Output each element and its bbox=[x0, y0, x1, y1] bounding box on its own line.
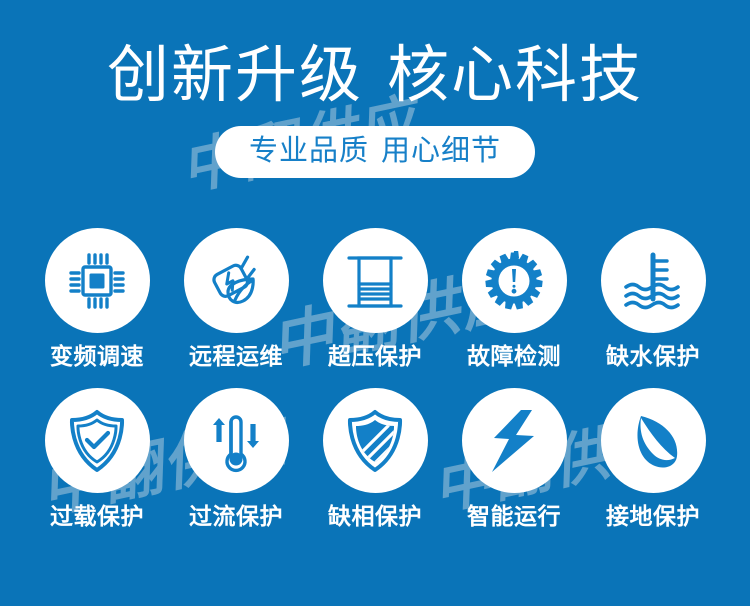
subtitle-part-2: 用心细节 bbox=[381, 135, 501, 167]
subtitle-part-1: 专业品质 bbox=[249, 135, 369, 167]
plug-leaf-icon bbox=[203, 248, 269, 314]
feature-item-guzhang-jiance[interactable]: 故障检测 bbox=[462, 228, 567, 370]
feature-item-yuancheng-yunwei[interactable]: 远程运维 bbox=[184, 228, 289, 370]
feature-label: 远程运维 bbox=[189, 342, 283, 370]
feature-item-jiedi-baohu[interactable]: 接地保护 bbox=[601, 388, 706, 530]
feature-label: 过载保护 bbox=[50, 502, 144, 530]
poster-root: 中翻供应 中翻供应 中翻供应 中翻供应 创新升级核心科技 专业品质用心细节 bbox=[0, 0, 750, 606]
feature-item-guoliu-baohu[interactable]: 过流保护 bbox=[184, 388, 289, 530]
water-level-gauge-icon bbox=[620, 249, 686, 313]
feature-item-zhineng-yunxing[interactable]: 智能运行 bbox=[462, 388, 567, 530]
title-part-1: 创新升级 bbox=[107, 41, 363, 110]
icon-disc bbox=[323, 388, 428, 493]
feature-label: 缺相保护 bbox=[328, 502, 422, 530]
feature-item-chaoya-baohu[interactable]: 超压保护 bbox=[323, 228, 428, 370]
icon-disc bbox=[601, 228, 706, 333]
feature-item-quexiang-baohu[interactable]: 缺相保护 bbox=[323, 388, 428, 530]
poster-header: 创新升级核心科技 专业品质用心细节 bbox=[0, 0, 750, 178]
feature-row: 过载保护 过流保护 bbox=[0, 388, 750, 530]
feature-label: 变频调速 bbox=[50, 342, 144, 370]
feature-item-queshui-baohu[interactable]: 缺水保护 bbox=[601, 228, 706, 370]
feature-label: 超压保护 bbox=[328, 342, 422, 370]
leaf-drop-icon bbox=[621, 408, 685, 474]
icon-disc bbox=[323, 228, 428, 333]
subtitle-pill-wrap: 专业品质用心细节 bbox=[0, 126, 750, 178]
cpu-chip-icon bbox=[65, 249, 129, 313]
feature-label: 接地保护 bbox=[606, 502, 700, 530]
feature-grid: 变频调速 bbox=[0, 228, 750, 530]
subtitle-pill: 专业品质用心细节 bbox=[215, 126, 535, 178]
title-part-2: 核心科技 bbox=[387, 41, 643, 110]
thermometer-arrows-icon bbox=[205, 408, 267, 474]
icon-disc bbox=[45, 388, 150, 493]
feature-item-guozai-baohu[interactable]: 过载保护 bbox=[45, 388, 150, 530]
icon-disc bbox=[462, 228, 567, 333]
shield-stripes-icon bbox=[344, 408, 406, 474]
lightning-bolt-icon bbox=[484, 408, 544, 474]
feature-row: 变频调速 bbox=[0, 228, 750, 370]
icon-disc bbox=[462, 388, 567, 493]
feature-item-bianpin-tiaosu[interactable]: 变频调速 bbox=[45, 228, 150, 370]
icon-disc bbox=[184, 388, 289, 493]
feature-label: 故障检测 bbox=[467, 342, 561, 370]
feature-label: 智能运行 bbox=[467, 502, 561, 530]
icon-disc bbox=[184, 228, 289, 333]
feature-label: 缺水保护 bbox=[606, 342, 700, 370]
pressure-vessel-icon bbox=[344, 250, 406, 312]
icon-disc bbox=[45, 228, 150, 333]
page-title: 创新升级核心科技 bbox=[0, 0, 750, 112]
gear-alert-icon bbox=[482, 249, 546, 313]
shield-check-icon bbox=[66, 408, 128, 474]
feature-label: 过流保护 bbox=[189, 502, 283, 530]
icon-disc bbox=[601, 388, 706, 493]
